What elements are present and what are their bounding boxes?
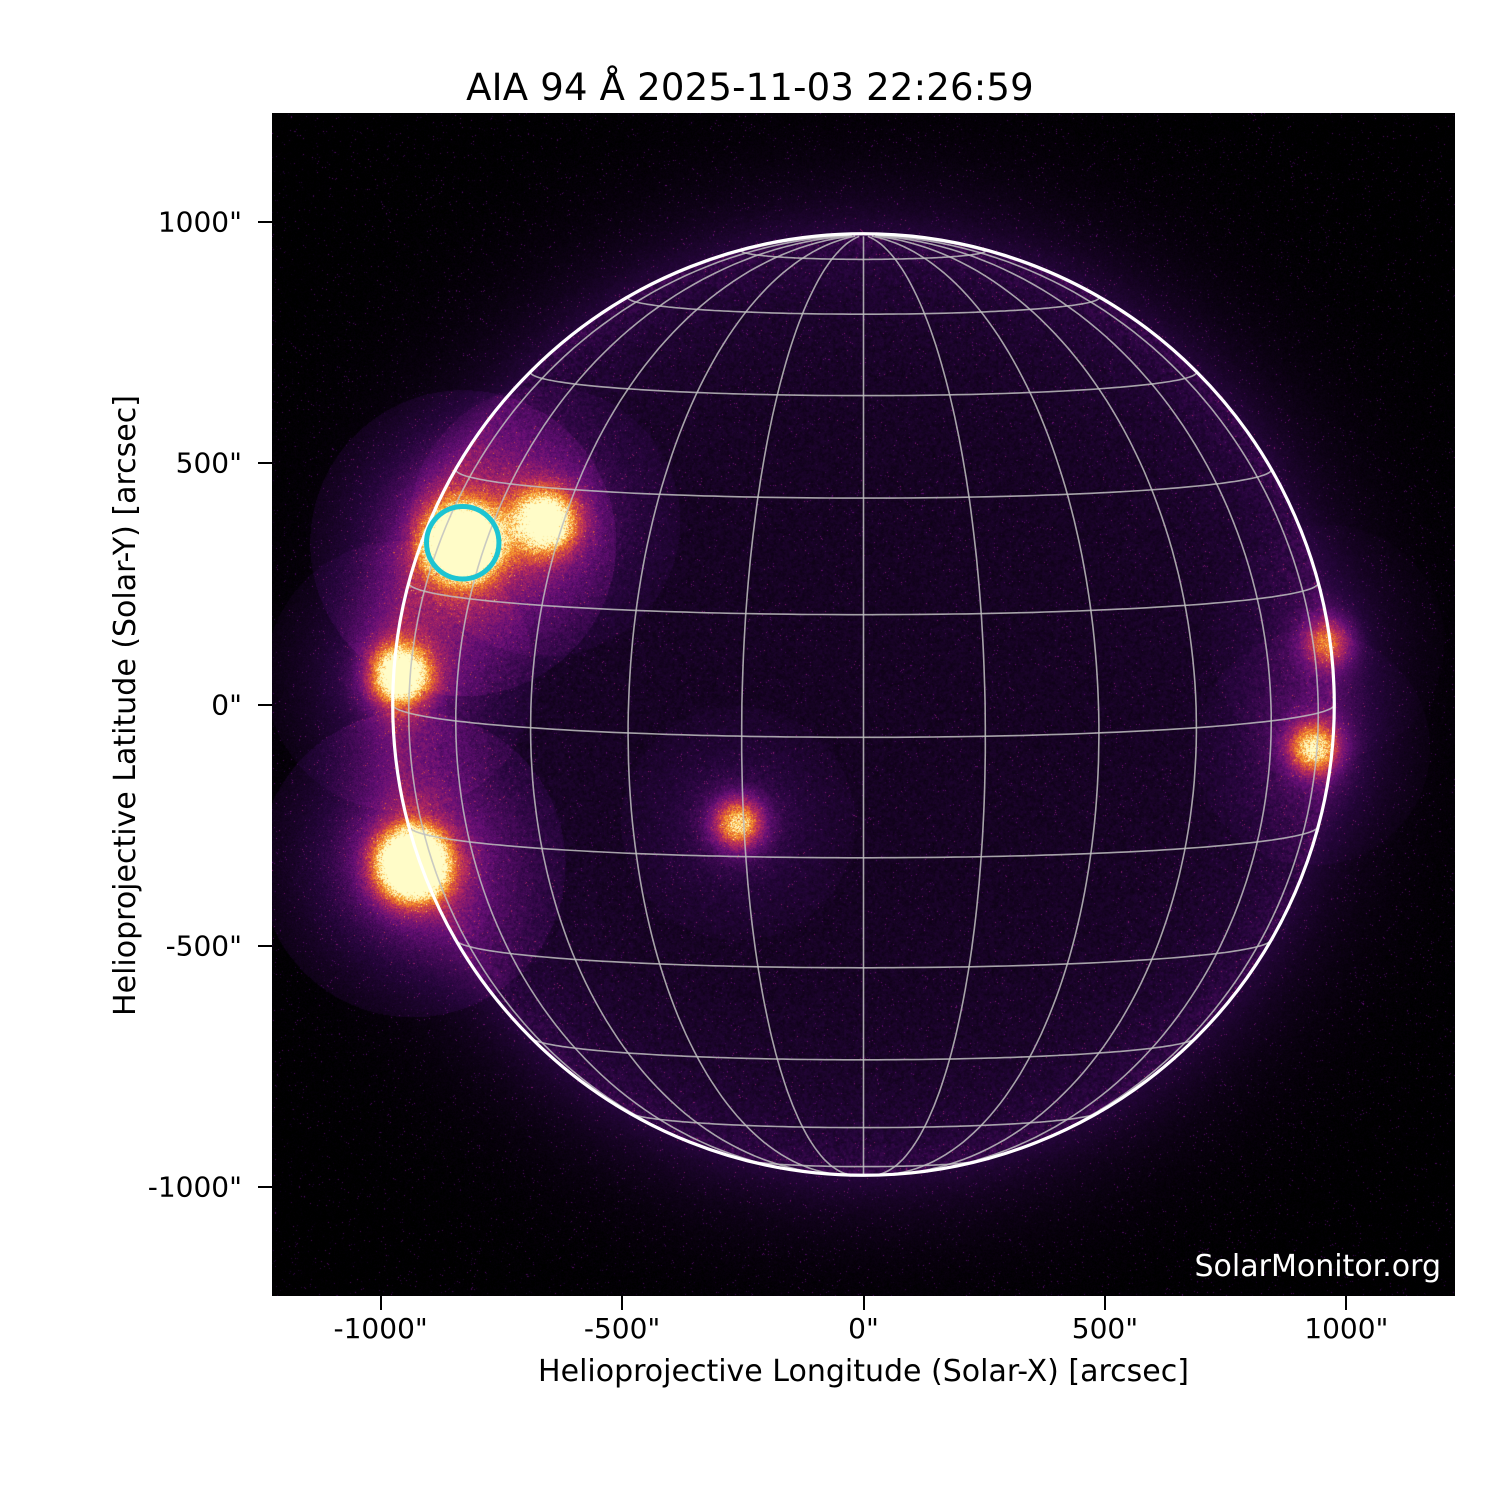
grid-line (868, 236, 986, 1175)
x-tick-mark (1104, 1296, 1106, 1310)
y-tick-label: -1000" (148, 1171, 242, 1204)
y-tick-mark (258, 704, 272, 706)
y-tick-label: 0" (211, 688, 242, 721)
x-tick-label: -1000" (334, 1312, 428, 1345)
x-tick-label: 500" (1072, 1312, 1138, 1345)
grid-line (742, 236, 860, 1175)
solar-overlay-svg (272, 113, 1455, 1296)
grid-line (878, 236, 1271, 1173)
y-tick-mark (258, 945, 272, 947)
solar-image-figure: AIA 94 Å 2025-11-03 22:26:59 SolarMonito… (0, 0, 1500, 1500)
y-axis-title: Helioprojective Latitude (Solar-Y) [arcs… (96, 114, 156, 1297)
y-tick-mark (258, 1186, 272, 1188)
x-axis-title: Helioprojective Longitude (Solar-X) [arc… (272, 1354, 1455, 1389)
grid-line (880, 235, 1334, 830)
grid-line (456, 236, 850, 1173)
x-tick-label: -500" (584, 1312, 660, 1345)
grid-line (531, 236, 852, 1174)
y-tick-mark (258, 221, 272, 223)
watermark-label: SolarMonitor.org (1195, 1249, 1441, 1284)
heliographic-grid (393, 235, 1335, 1175)
x-tick-mark (863, 1296, 865, 1310)
y-tick-label: -500" (166, 929, 242, 962)
grid-line (875, 236, 1196, 1174)
image-plot-area[interactable]: SolarMonitor.org (272, 113, 1455, 1296)
x-tick-mark (621, 1296, 623, 1310)
x-tick-label: 0" (848, 1312, 879, 1345)
y-tick-mark (258, 462, 272, 464)
figure-title: AIA 94 Å 2025-11-03 22:26:59 (0, 66, 1500, 109)
x-tick-mark (1345, 1296, 1347, 1310)
x-tick-label: 1000" (1304, 1312, 1388, 1345)
y-tick-label: 500" (176, 447, 242, 480)
y-tick-label: 1000" (158, 205, 242, 238)
x-tick-mark (380, 1296, 382, 1310)
active-region-circle-marker[interactable] (427, 507, 499, 579)
grid-line (393, 235, 847, 830)
